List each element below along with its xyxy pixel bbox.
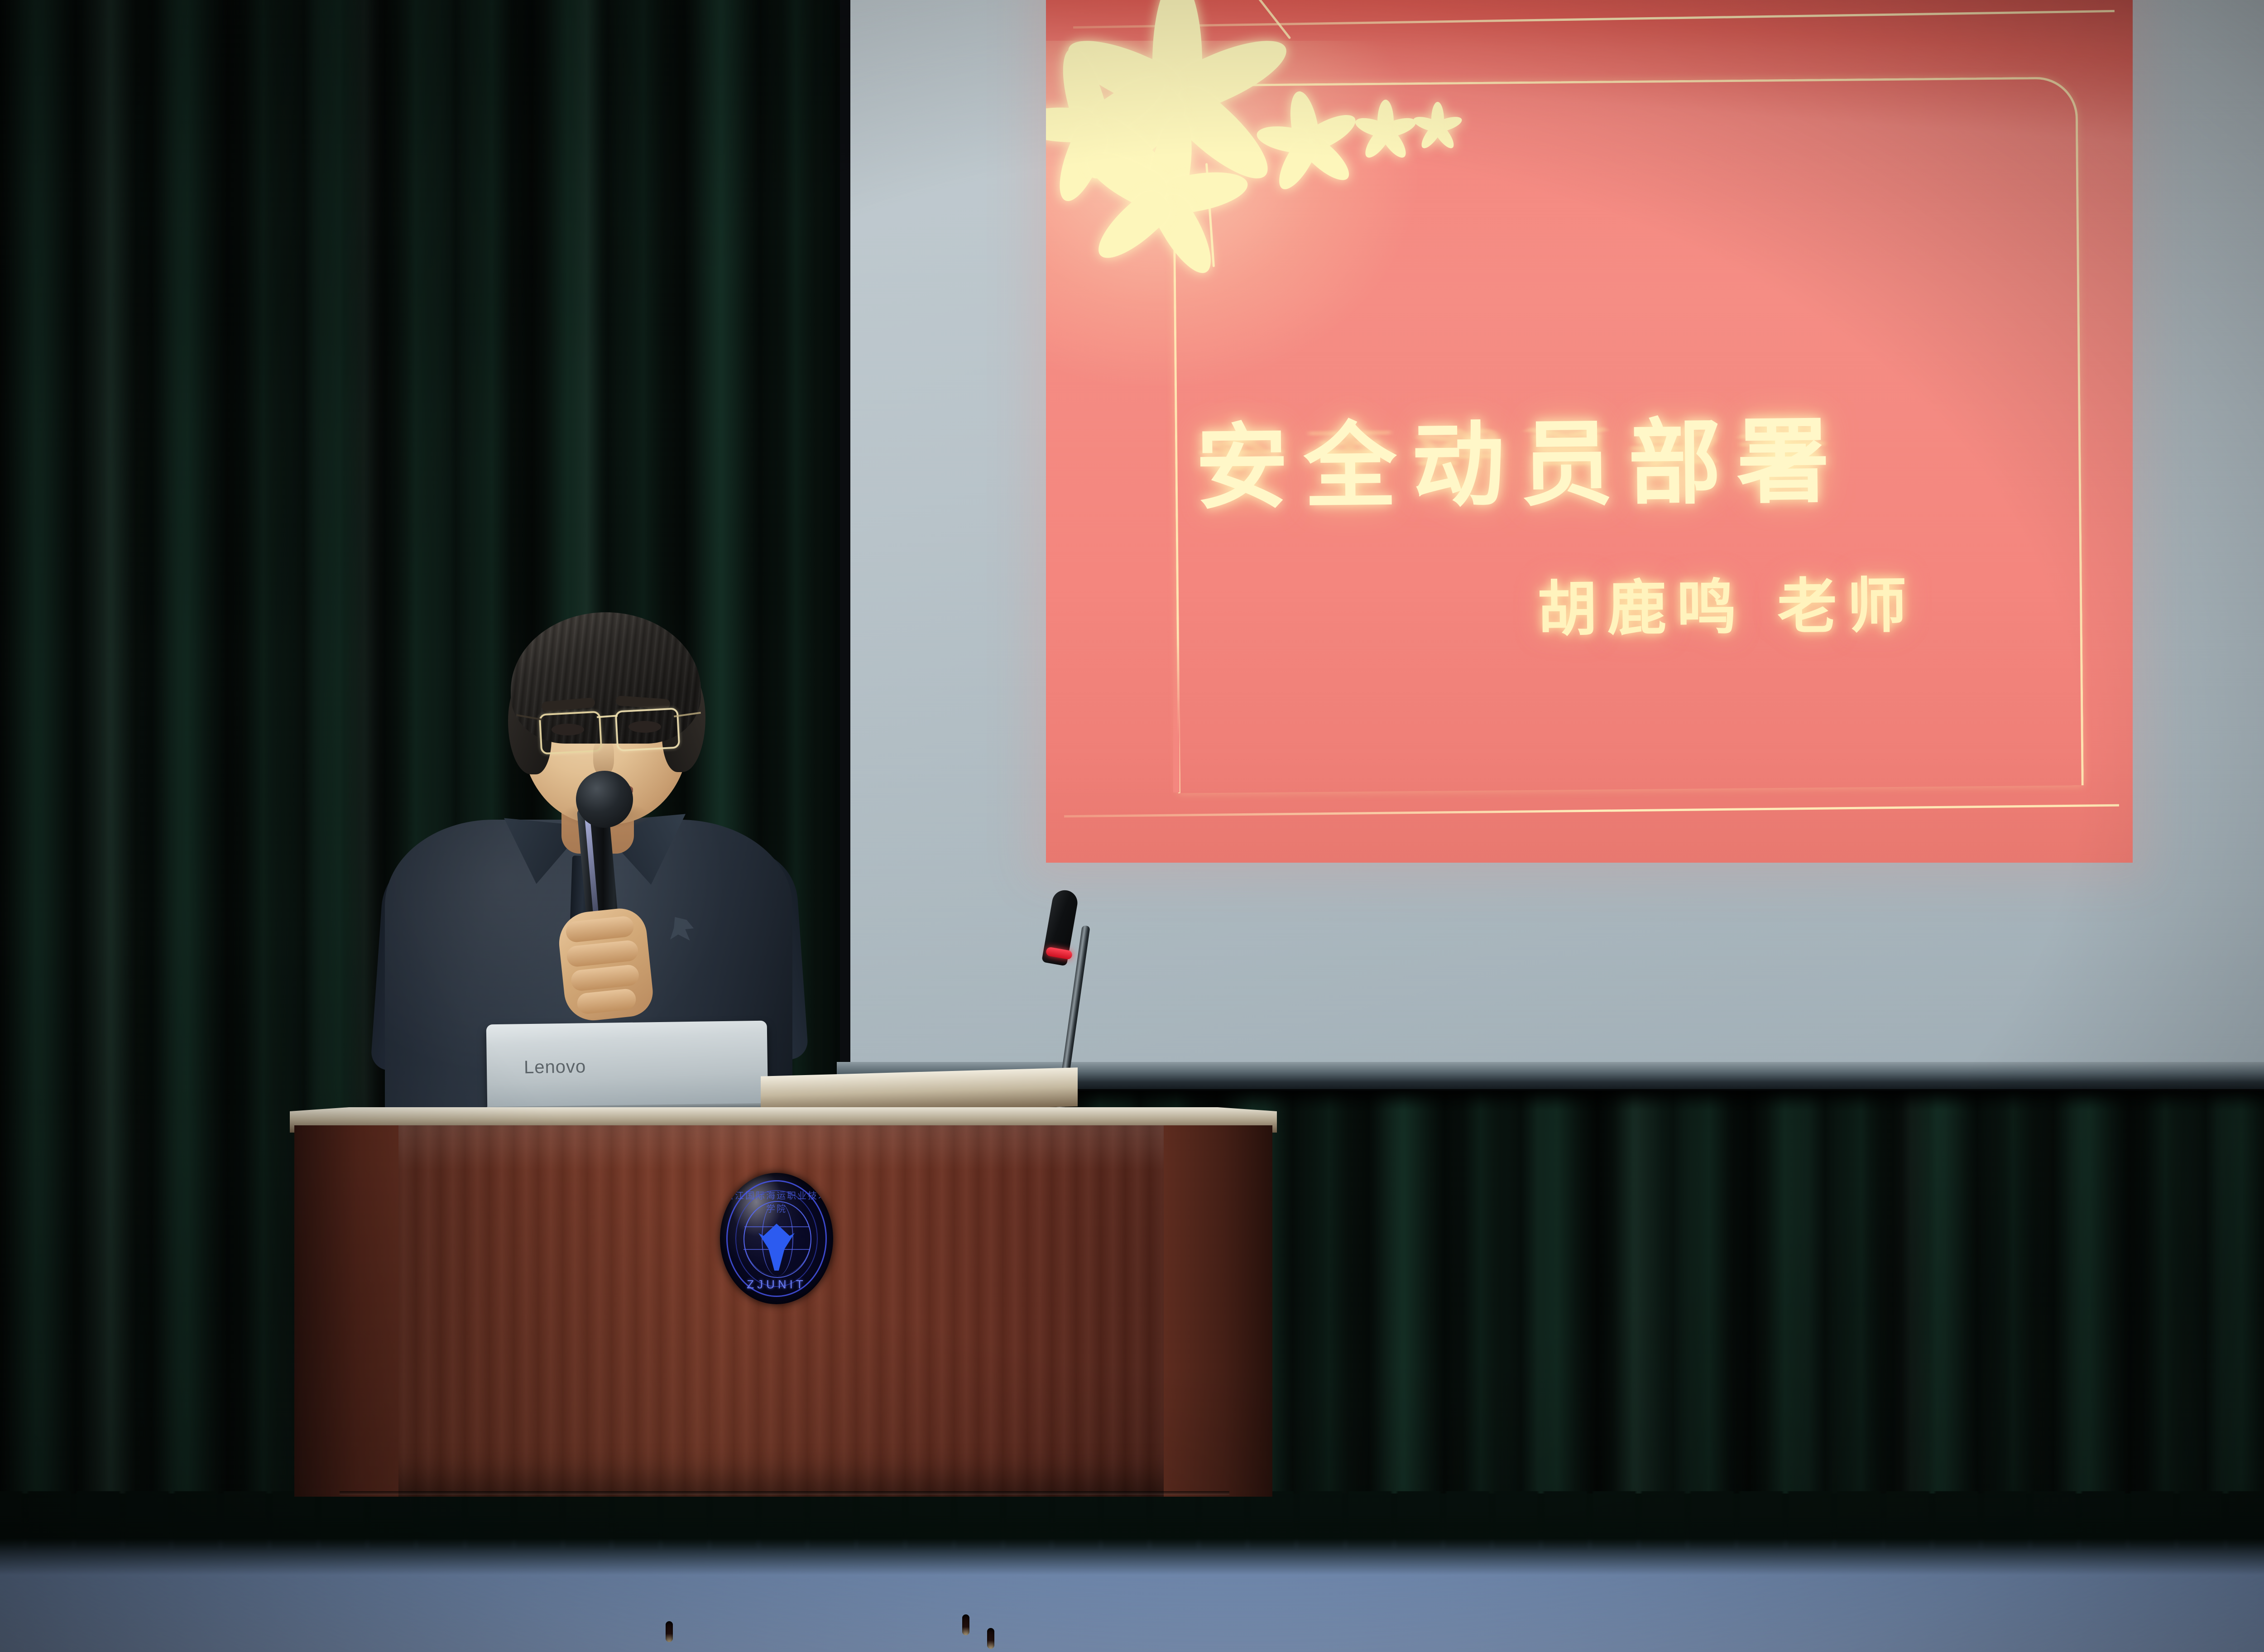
photo-scene: 安全动员部署 安全动员部署 胡鹿鸣 老师 bbox=[0, 0, 2264, 1652]
laptop[interactable]: Lenovo bbox=[486, 1021, 768, 1112]
hand bbox=[556, 906, 655, 1023]
podium-vent-hole bbox=[666, 1621, 673, 1642]
nose bbox=[593, 738, 614, 775]
slide-bottom-rule bbox=[1064, 804, 2119, 817]
cherry-blossom-icon bbox=[1046, 0, 1503, 281]
slide-title: 安全动员部署 bbox=[1194, 386, 1845, 527]
podium-lower-panel bbox=[340, 1492, 1229, 1652]
laptop-brand-label: Lenovo bbox=[524, 1057, 586, 1078]
podium-vent-hole bbox=[987, 1628, 994, 1649]
podium-vent-hole bbox=[962, 1614, 969, 1635]
projected-slide: 安全动员部署 安全动员部署 胡鹿鸣 老师 bbox=[1046, 0, 2133, 863]
emblem-acronym: ZJUNIT bbox=[720, 1277, 833, 1292]
podium-emblem: 浙江国际海运职业技术学院 ZJUNIT bbox=[720, 1173, 833, 1304]
podium-right-bevel bbox=[1164, 1125, 1272, 1497]
slide-border-fade bbox=[1173, 634, 1180, 792]
glasses-lens-right bbox=[615, 707, 681, 751]
slide-presenter-name: 胡鹿鸣 老师 bbox=[1537, 557, 1917, 648]
podium-left-bevel bbox=[294, 1125, 398, 1497]
glasses-lens-left bbox=[539, 711, 603, 755]
